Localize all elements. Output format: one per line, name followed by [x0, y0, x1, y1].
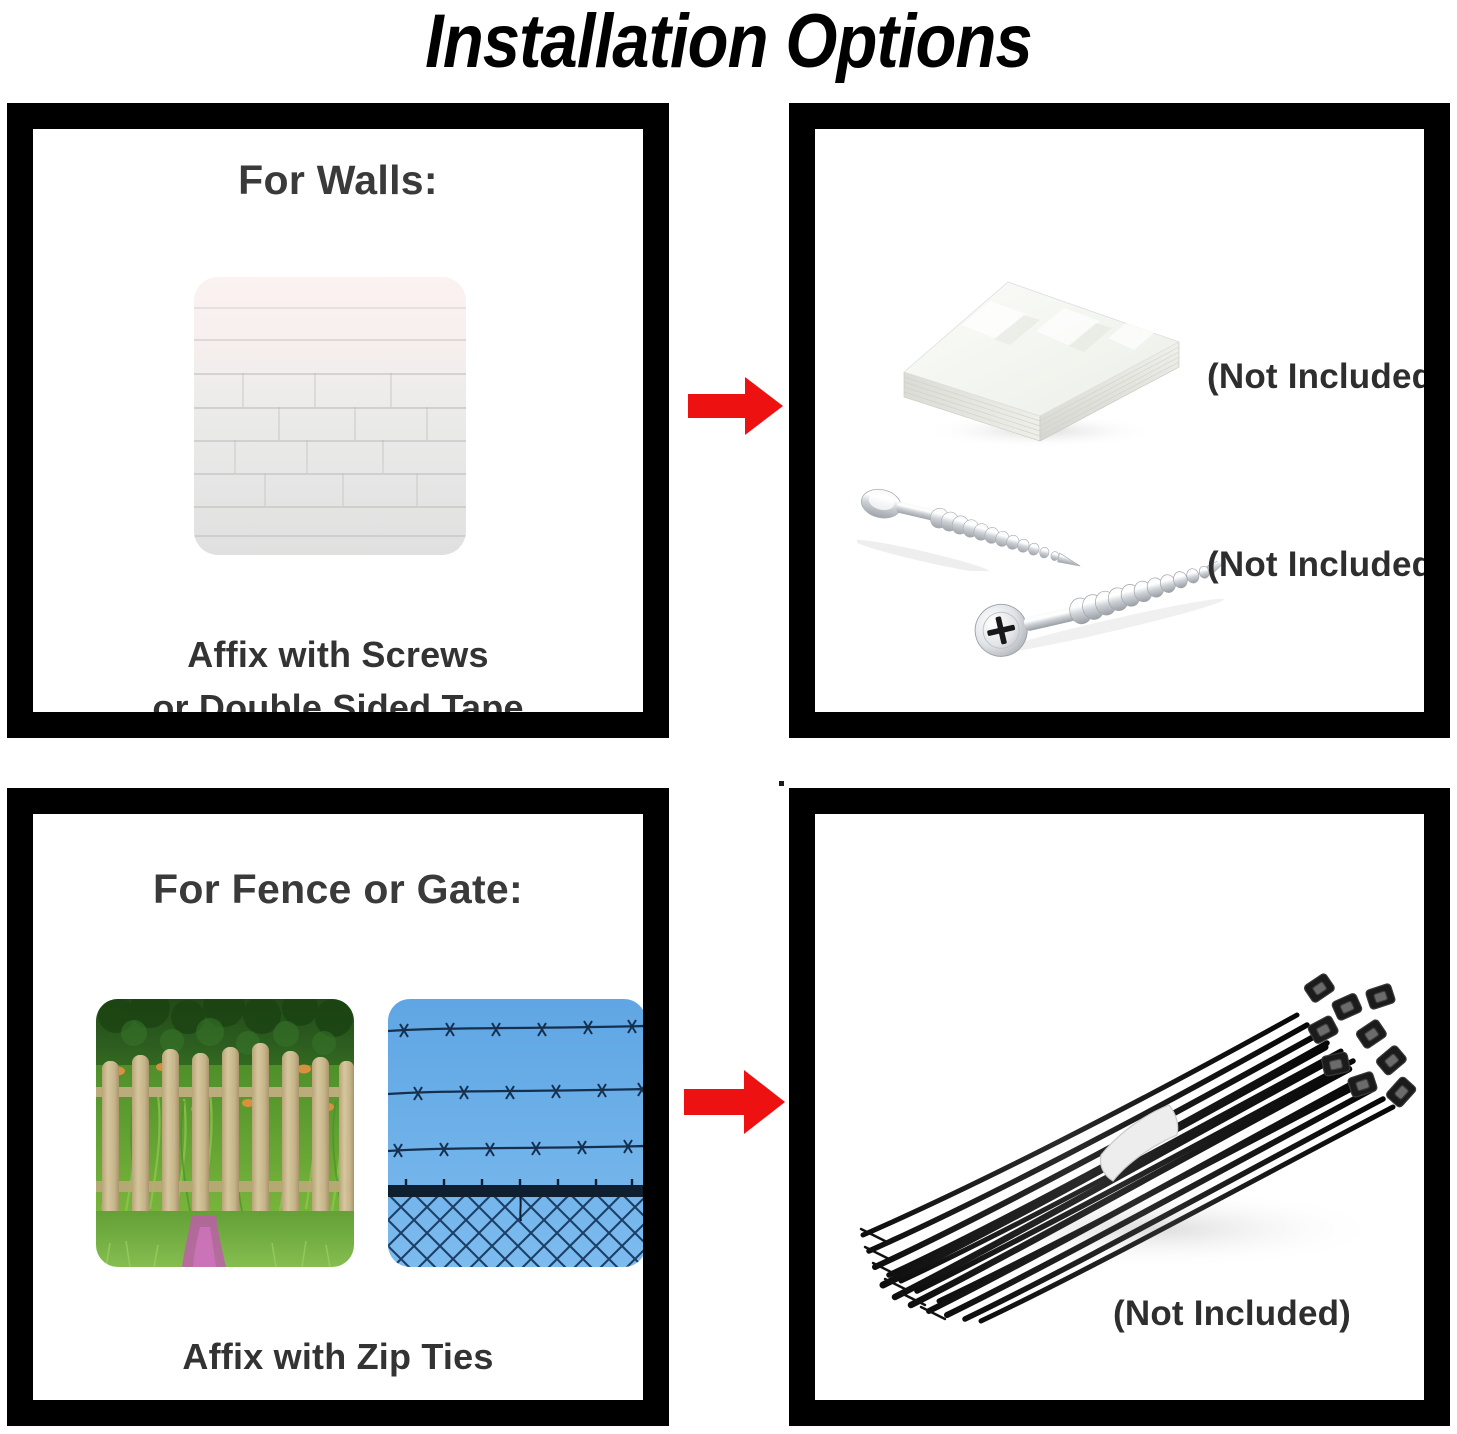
white-brick-wall-photo — [194, 277, 466, 555]
red-right-arrow-icon — [684, 1068, 786, 1136]
red-right-arrow-icon — [688, 375, 784, 437]
image-artifact-speck — [779, 781, 784, 786]
walls-caption-line-2: or Double Sided Tape — [33, 687, 643, 712]
zip-ties-not-included-label: (Not Included) — [1113, 1294, 1351, 1334]
wooden-picket-fence-photo — [96, 999, 354, 1267]
wood-screw-upper-image — [857, 481, 1117, 571]
screws-not-included-label: (Not Included) — [1207, 545, 1424, 585]
panel-for-walls: For Walls: Affix with Screws — [7, 103, 669, 738]
walls-caption-line-1: Affix with Screws — [33, 634, 643, 676]
for-fence-or-gate-heading: For Fence or Gate: — [33, 866, 643, 913]
chain-link-barbed-wire-fence-photo — [388, 999, 643, 1267]
tape-not-included-label: (Not Included) — [1207, 357, 1424, 397]
double-sided-tape-stack-image — [890, 269, 1190, 454]
page-title: Installation Options — [87, 0, 1369, 88]
panel-for-fence-or-gate: For Fence or Gate: — [7, 788, 669, 1426]
panel-fence-hardware: (Not Included) — [789, 788, 1450, 1426]
panel-wall-hardware: (Not Included) — [789, 103, 1450, 738]
fence-caption: Affix with Zip Ties — [33, 1336, 643, 1378]
for-walls-heading: For Walls: — [33, 157, 643, 204]
zip-ties-bundle-image — [855, 929, 1424, 1329]
